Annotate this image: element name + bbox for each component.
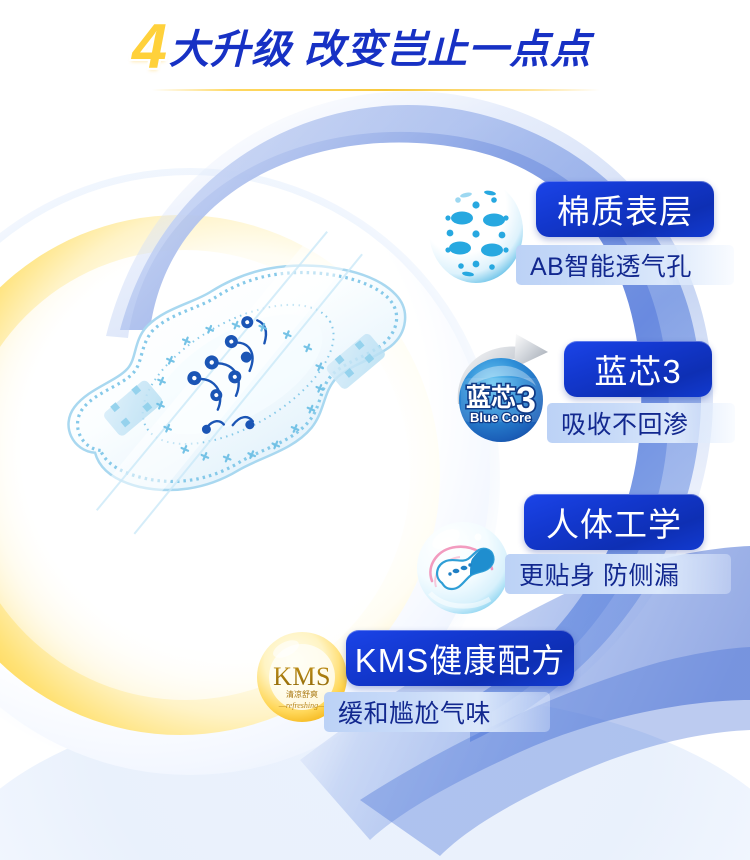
blue-core-icon: 蓝芯 3 Blue Core xyxy=(450,344,552,446)
feature-title-pill-ergonomics[interactable]: 人体工学 xyxy=(524,494,704,550)
headline-number: 4 xyxy=(132,18,165,78)
page-title: 4 大升级 改变岂止一点点 xyxy=(0,8,750,100)
svg-text:—refreshing—: —refreshing— xyxy=(278,701,326,710)
svg-text:蓝芯: 蓝芯 xyxy=(466,384,516,412)
feature-title-pill-kms[interactable]: KMS健康配方 xyxy=(346,630,574,686)
feature-subtitle-ergonomics: 更贴身 防侧漏 xyxy=(505,554,731,594)
ergonomic-pad-icon xyxy=(416,521,510,615)
feature-subtitle-kms: 缓和尴尬气味 xyxy=(324,692,550,732)
promo-poster: 4 大升级 改变岂止一点点 xyxy=(0,0,750,860)
feature-subtitle-blue-core: 吸收不回渗 xyxy=(547,403,735,443)
svg-text:KMS: KMS xyxy=(273,662,331,691)
product-pad xyxy=(4,182,467,578)
svg-text:清凉舒爽: 清凉舒爽 xyxy=(286,689,318,699)
feature-title-pill-blue-core[interactable]: 蓝芯3 xyxy=(564,341,712,397)
headline-text: 大升级 改变岂止一点点 xyxy=(169,25,591,78)
title-underline xyxy=(152,89,600,91)
feature-title-pill-cotton[interactable]: 棉质表层 xyxy=(536,181,714,237)
cotton-pores-icon xyxy=(428,178,524,284)
feature-subtitle-cotton: AB智能透气孔 xyxy=(516,245,734,285)
svg-text:Blue Core: Blue Core xyxy=(470,410,531,425)
